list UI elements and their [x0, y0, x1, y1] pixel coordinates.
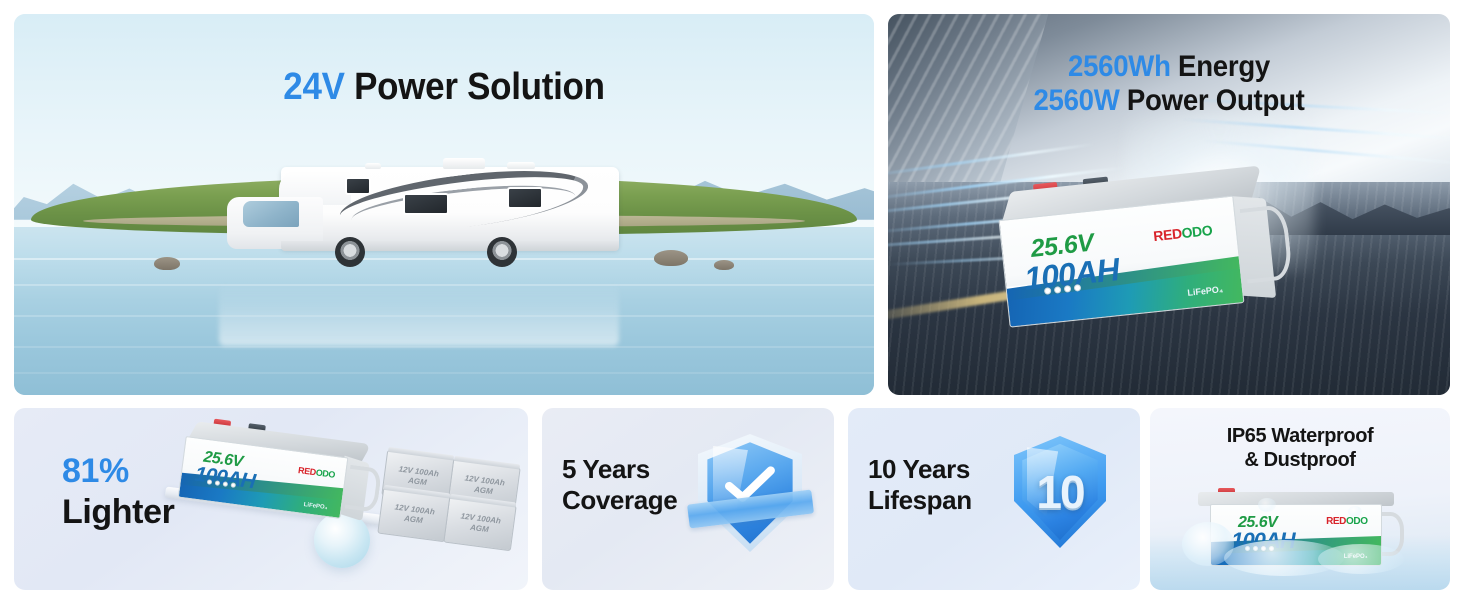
stat-81-percent: 81% [62, 452, 129, 490]
title-rest-power-output: Power Output [1120, 84, 1305, 117]
rock [154, 257, 180, 270]
card-ip65-waterproof: IP65 Waterproof & Dustproof 25.6V 100AH … [1150, 408, 1450, 590]
title-line-2: 2560W Power Output [1033, 84, 1304, 117]
shield-check-icon [698, 434, 802, 552]
rock [654, 250, 688, 266]
card-text-lighter: 81% Lighter [62, 451, 174, 533]
label-5-years: 5 Years [562, 454, 650, 484]
title-accent-24v: 24V [283, 66, 344, 108]
waterproof-battery-icon: 25.6V 100AH REDODO LiFePO₄ [1198, 492, 1394, 568]
agm-battery: 12V 100AhAGM [377, 488, 450, 542]
panel-2560wh-energy: 25.6V 100AH REDODO LiFePO₄ 2560Wh Energy… [888, 14, 1450, 395]
battery-hero-image: 25.6V 100AH REDODO LiFePO₄ [996, 165, 1277, 327]
marketing-banner: 24V Power Solution [0, 0, 1464, 600]
water-splash [1318, 544, 1404, 574]
redodo-logo: REDODO [1153, 222, 1213, 244]
lithium-battery-on-seesaw: 25.6V 100AH REDODO LiFePO₄ [178, 420, 373, 522]
rock [714, 260, 734, 270]
title-line-1: 2560Wh Energy [1068, 50, 1270, 83]
title-rest-power-solution: Power Solution [345, 66, 605, 108]
agm-label: 12V 100AhAGM [393, 502, 436, 527]
badge-number-10: 10 [1014, 465, 1106, 519]
label-coverage: Coverage [562, 485, 677, 515]
title-rest-energy: Energy [1171, 50, 1270, 83]
redodo-logo: REDODO [298, 465, 336, 480]
card-text-ip65: IP65 Waterproof & Dustproof [1150, 424, 1450, 472]
label-ip65-waterproof: IP65 Waterproof [1227, 425, 1374, 447]
card-5-years-coverage: 5 Years Coverage [542, 408, 834, 590]
agm-label: 12V 100AhAGM [459, 511, 502, 536]
card-10-years-lifespan: 10 Years Lifespan 10 [848, 408, 1140, 590]
panel-title-24v: 24V Power Solution [48, 66, 839, 109]
agm-label: 12V 100AhAGM [463, 473, 506, 498]
shield-10-icon: 10 [1014, 436, 1106, 548]
card-81-percent-lighter: 25.6V 100AH REDODO LiFePO₄ 12V 100AhAGM … [14, 408, 528, 590]
panel-24v-power-solution: 24V Power Solution [14, 14, 874, 395]
agm-battery: 12V 100AhAGM [443, 497, 516, 551]
card-text-coverage: 5 Years Coverage [562, 454, 677, 516]
label-lighter: Lighter [62, 493, 174, 531]
water-droplet [1258, 498, 1276, 512]
title-accent-2560wh: 2560Wh [1068, 50, 1171, 83]
label-10-years: 10 Years [868, 454, 970, 484]
water-droplet [1348, 506, 1362, 517]
card-text-lifespan: 10 Years Lifespan [868, 454, 972, 516]
title-accent-2560w: 2560W [1033, 84, 1119, 117]
rv-motorhome-illustration [219, 145, 619, 279]
label-lifespan: Lifespan [868, 485, 972, 515]
agm-battery-stack: 12V 100AhAGM 12V 100AhAGM 12V 100AhAGM 1… [384, 442, 524, 542]
agm-label: 12V 100AhAGM [397, 464, 440, 489]
label-dustproof: & Dustproof [1244, 449, 1355, 471]
panel-title-energy-output: 2560Wh Energy 2560W Power Output [910, 50, 1427, 117]
redodo-logo: REDODO [1326, 516, 1368, 527]
rv-water-reflection [219, 282, 619, 346]
